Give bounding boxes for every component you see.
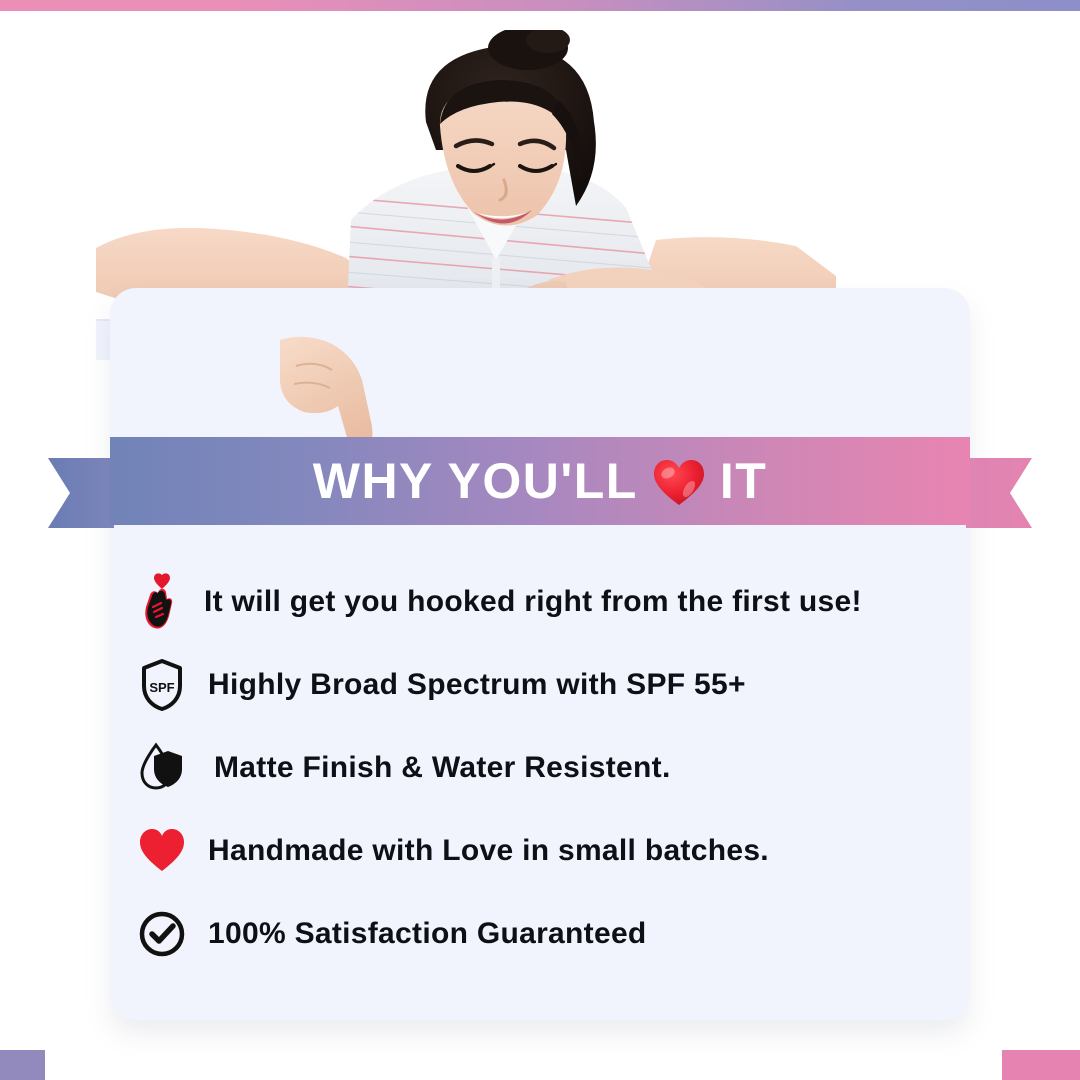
benefit-item: Handmade with Love in small batches. — [110, 809, 970, 892]
spf-shield-icon: SPF — [132, 654, 192, 716]
promo-graphic: WHY YOU'LL IT — [0, 0, 1080, 1080]
ribbon-banner — [44, 432, 1036, 536]
corner-accent-right — [1002, 1050, 1080, 1080]
benefit-label: Highly Broad Spectrum with SPF 55+ — [208, 668, 746, 702]
spf-badge-text: SPF — [149, 680, 174, 695]
heart-icon — [132, 820, 192, 882]
finger-heart-icon — [132, 571, 192, 633]
benefit-label: Handmade with Love in small batches. — [208, 834, 769, 868]
benefit-item: It will get you hooked right from the fi… — [110, 560, 970, 643]
benefit-item: 100% Satisfaction Guaranteed — [110, 892, 970, 975]
benefit-label: It will get you hooked right from the fi… — [204, 585, 862, 619]
benefit-label: 100% Satisfaction Guaranteed — [208, 917, 647, 951]
corner-accent-left — [0, 1050, 45, 1080]
top-gradient-bar — [0, 0, 1080, 11]
water-drop-shield-icon — [132, 737, 192, 799]
benefit-label: Matte Finish & Water Resistent. — [214, 751, 671, 785]
benefit-item: SPF Highly Broad Spectrum with SPF 55+ — [110, 643, 970, 726]
benefits-list: It will get you hooked right from the fi… — [110, 560, 970, 975]
benefit-item: Matte Finish & Water Resistent. — [110, 726, 970, 809]
check-circle-icon — [132, 903, 192, 965]
